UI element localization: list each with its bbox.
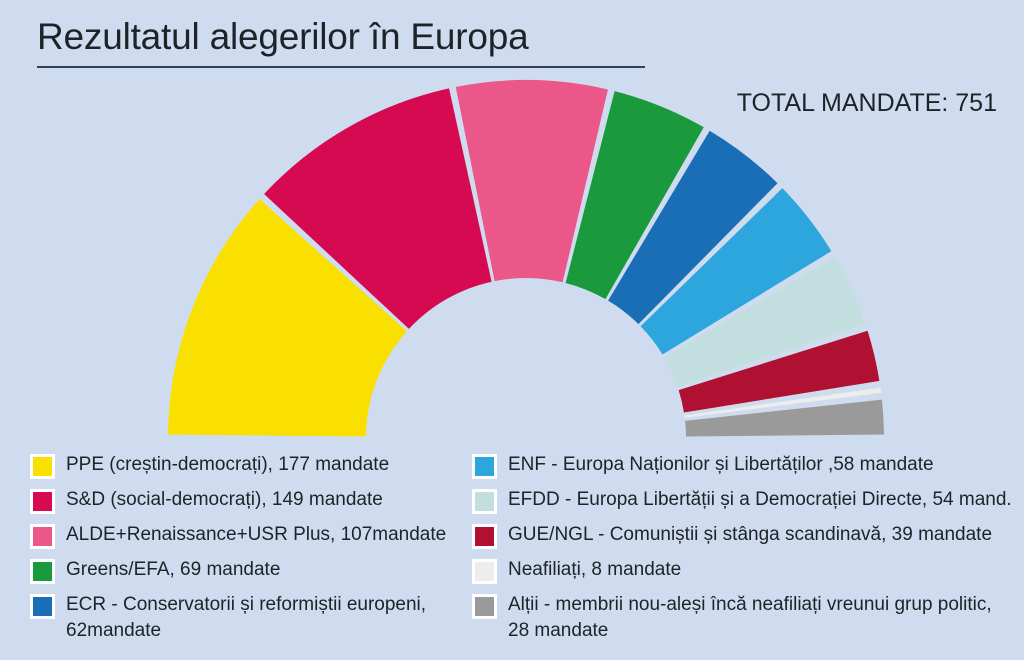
- legend: PPE (creștin-democrați), 177 mandateS&D …: [0, 452, 1024, 660]
- legend-swatch-box-alde: [30, 524, 55, 549]
- legend-label-ecr: ECR - Conservatorii și reformiștii europ…: [66, 592, 470, 644]
- legend-swatch-box-ecr: [30, 594, 55, 619]
- hemicycle-svg: [0, 0, 1024, 450]
- legend-item-greens[interactable]: Greens/EFA, 69 mandate: [30, 557, 470, 584]
- legend-item-altii[interactable]: Alții - membrii nou-aleși încă neafiliaț…: [472, 592, 1017, 644]
- legend-color-swatch-enf: [475, 457, 494, 476]
- legend-label-guengl: GUE/NGL - Comuniștii și stânga scandinav…: [508, 522, 992, 548]
- legend-swatch-box-guengl: [472, 524, 497, 549]
- legend-label-neafiliati: Neafiliați, 8 mandate: [508, 557, 681, 583]
- hemicycle-chart: [0, 0, 1024, 450]
- legend-color-swatch-ppe: [33, 457, 52, 476]
- legend-item-ecr[interactable]: ECR - Conservatorii și reformiștii europ…: [30, 592, 470, 644]
- legend-swatch-box-altii: [472, 594, 497, 619]
- legend-item-efdd[interactable]: EFDD - Europa Libertății și a Democrație…: [472, 487, 1017, 514]
- legend-swatch-box-neafiliati: [472, 559, 497, 584]
- legend-label-altii: Alții - membrii nou-aleși încă neafiliaț…: [508, 592, 1017, 644]
- legend-color-swatch-guengl: [475, 527, 494, 546]
- legend-swatch-box-efdd: [472, 489, 497, 514]
- legend-item-enf[interactable]: ENF - Europa Naționilor și Libertăților …: [472, 452, 1017, 479]
- legend-label-efdd: EFDD - Europa Libertății și a Democrație…: [508, 487, 1012, 513]
- legend-column-left: PPE (creștin-democrați), 177 mandateS&D …: [30, 452, 470, 652]
- legend-label-sd: S&D (social-democrați), 149 mandate: [66, 487, 383, 513]
- legend-swatch-box-greens: [30, 559, 55, 584]
- legend-swatch-box-sd: [30, 489, 55, 514]
- legend-label-alde: ALDE+Renaissance+USR Plus, 107mandate: [66, 522, 446, 548]
- legend-color-swatch-efdd: [475, 492, 494, 511]
- legend-color-swatch-ecr: [33, 597, 52, 616]
- legend-color-swatch-neafiliati: [475, 562, 494, 581]
- legend-label-enf: ENF - Europa Naționilor și Libertăților …: [508, 452, 934, 478]
- legend-item-sd[interactable]: S&D (social-democrați), 149 mandate: [30, 487, 470, 514]
- legend-item-alde[interactable]: ALDE+Renaissance+USR Plus, 107mandate: [30, 522, 470, 549]
- legend-color-swatch-altii: [475, 597, 494, 616]
- legend-color-swatch-alde: [33, 527, 52, 546]
- legend-item-guengl[interactable]: GUE/NGL - Comuniștii și stânga scandinav…: [472, 522, 1017, 549]
- legend-color-swatch-greens: [33, 562, 52, 581]
- legend-item-ppe[interactable]: PPE (creștin-democrați), 177 mandate: [30, 452, 470, 479]
- legend-item-neafiliati[interactable]: Neafiliați, 8 mandate: [472, 557, 1017, 584]
- legend-label-greens: Greens/EFA, 69 mandate: [66, 557, 280, 583]
- legend-swatch-box-ppe: [30, 454, 55, 479]
- legend-label-ppe: PPE (creștin-democrați), 177 mandate: [66, 452, 389, 478]
- legend-column-right: ENF - Europa Naționilor și Libertăților …: [472, 452, 1017, 652]
- legend-color-swatch-sd: [33, 492, 52, 511]
- legend-swatch-box-enf: [472, 454, 497, 479]
